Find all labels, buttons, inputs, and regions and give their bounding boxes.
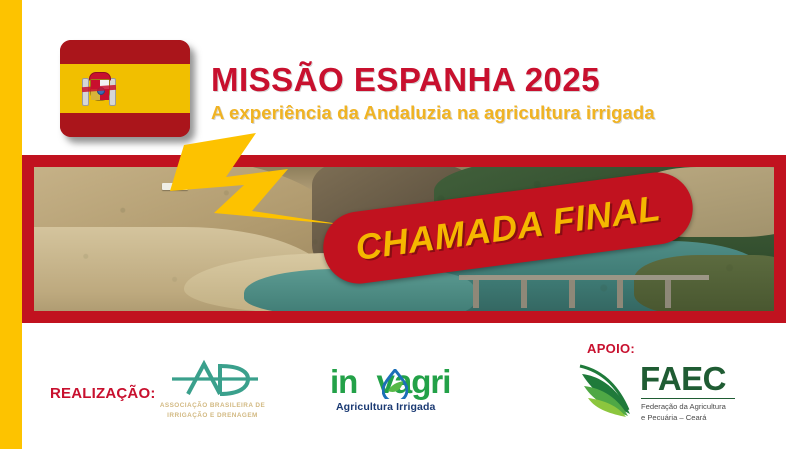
abid-tagline-2: IRRIGAÇÃO E DRENAGEM bbox=[150, 411, 275, 421]
faec-tagline-1: Federação da Agricultura bbox=[641, 401, 741, 412]
flag-band-top bbox=[60, 40, 190, 64]
inovagri-tagline: Agricultura Irrigada bbox=[336, 401, 486, 413]
spain-flag bbox=[60, 40, 192, 140]
page-title: MISSÃO ESPANHA 2025 bbox=[211, 63, 600, 96]
abid-tagline-1: ASSOCIAÇÃO BRASILEIRA DE bbox=[150, 401, 275, 411]
header-section: MISSÃO ESPANHA 2025 A experiência da And… bbox=[22, 0, 800, 155]
realizacao-label: REALIZAÇÃO: bbox=[50, 385, 156, 402]
apoio-label: APOIO: bbox=[587, 341, 635, 356]
faec-tagline: Federação da Agricultura e Pecuária – Ce… bbox=[641, 401, 741, 423]
poster-root: MISSÃO ESPANHA 2025 A experiência da And… bbox=[0, 0, 800, 449]
flag-band-middle bbox=[60, 64, 190, 113]
inovagri-logo: inovagri Agricultura Irrigada bbox=[330, 363, 485, 423]
abid-mark-icon bbox=[168, 358, 260, 398]
inovagri-word-before: in bbox=[330, 363, 357, 400]
faec-tagline-2: e Pecuária – Ceará bbox=[641, 412, 741, 423]
faec-logo: FAEC Federação da Agricultura e Pecuária… bbox=[578, 362, 738, 424]
abid-tagline: ASSOCIAÇÃO BRASILEIRA DE IRRIGAÇÃO E DRE… bbox=[150, 401, 275, 421]
left-accent-bar bbox=[0, 0, 22, 449]
faec-wordmark: FAEC bbox=[640, 360, 726, 398]
coat-of-arms-icon bbox=[82, 72, 116, 108]
faec-divider bbox=[641, 398, 735, 399]
wheat-leaf-icon bbox=[578, 364, 638, 418]
abid-logo: ASSOCIAÇÃO BRASILEIRA DE IRRIGAÇÃO E DRE… bbox=[150, 358, 275, 430]
water-drop-leaf-icon bbox=[382, 369, 408, 399]
page-subtitle: A experiência da Andaluzia na agricultur… bbox=[211, 104, 655, 123]
